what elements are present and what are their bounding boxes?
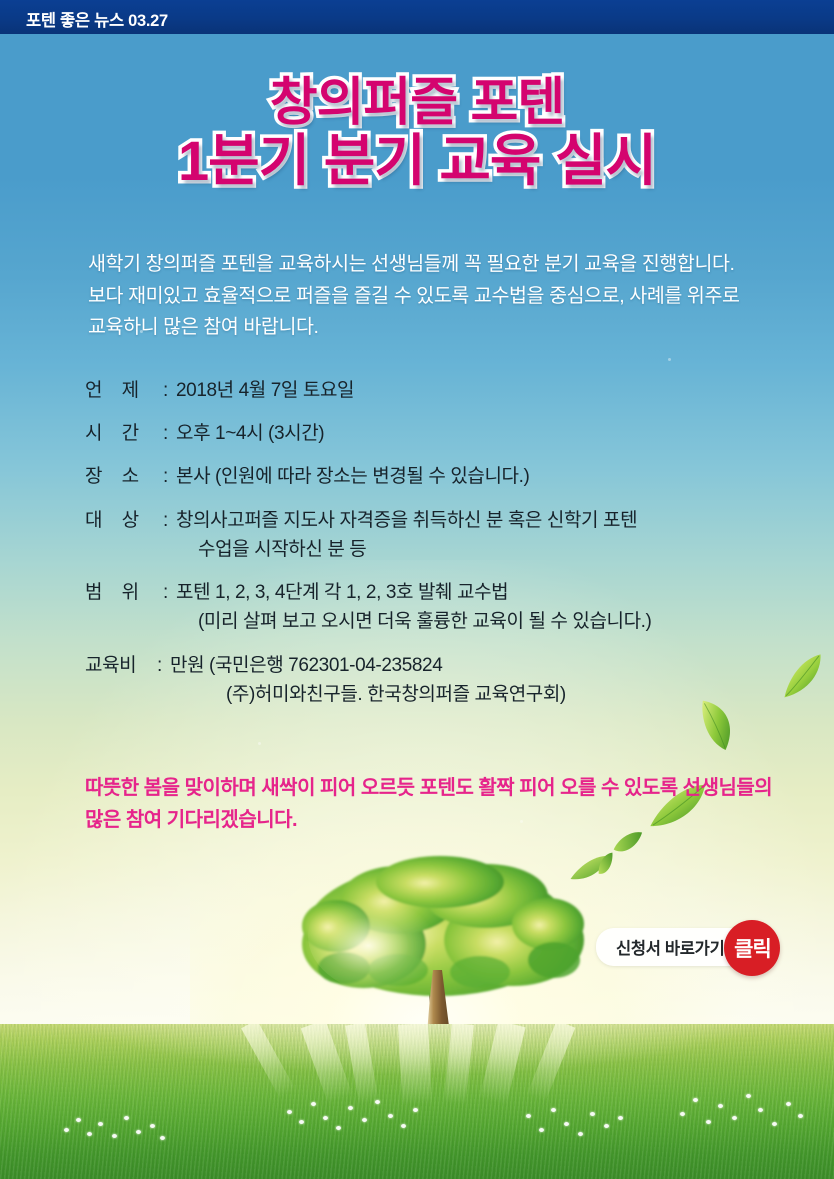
detail-row-audience: 대 상 : 창의사고퍼즐 지도사 자격증을 취득하신 분 혹은 신학기 포텐 수… bbox=[85, 508, 785, 563]
detail-colon: : bbox=[163, 464, 176, 490]
detail-value: 오후 1~4시 (3시간) bbox=[176, 421, 785, 447]
detail-colon: : bbox=[163, 580, 176, 606]
detail-label: 범 위 bbox=[85, 580, 163, 606]
closing-message: 따뜻한 봄을 맞이하며 새싹이 피어 오르듯 포텐도 활짝 피어 오를 수 있도… bbox=[85, 772, 775, 836]
flower-cluster bbox=[285, 1096, 425, 1136]
detail-colon: : bbox=[163, 421, 176, 447]
detail-row-scope: 범 위 : 포텐 1, 2, 3, 4단계 각 1, 2, 3호 발췌 교수법 … bbox=[85, 580, 785, 635]
detail-value-sub: 수업을 시작하신 분 등 bbox=[176, 537, 785, 563]
detail-colon: : bbox=[157, 653, 170, 679]
flower-cluster bbox=[680, 1090, 810, 1134]
detail-value-sub: (주)허미와친구들. 한국창의퍼즐 교육연구회) bbox=[170, 682, 785, 708]
flower-cluster bbox=[520, 1104, 640, 1140]
detail-row-fee: 교육비 : 만원 (국민은행 762301-04-235824 (주)허미와친구… bbox=[85, 653, 785, 708]
detail-row-time: 시 간 : 오후 1~4시 (3시간) bbox=[85, 421, 785, 447]
detail-value-main: 만원 (국민은행 762301-04-235824 bbox=[170, 655, 442, 676]
header-bar: 포텐 좋은 뉴스 03.27 bbox=[0, 0, 834, 34]
newsletter-poster: 포텐 좋은 뉴스 03.27 bbox=[0, 0, 834, 1179]
detail-label: 시 간 bbox=[85, 421, 163, 447]
detail-value: 2018년 4월 7일 토요일 bbox=[176, 378, 785, 404]
header-title: 포텐 좋은 뉴스 03.27 bbox=[26, 7, 168, 31]
event-details-list: 언 제 : 2018년 4월 7일 토요일 시 간 : 오후 1~4시 (3시간… bbox=[85, 378, 785, 725]
detail-colon: : bbox=[163, 378, 176, 404]
lead-paragraph: 새학기 창의퍼즐 포텐을 교육하시는 선생님들께 꼭 필요한 분기 교육을 진행… bbox=[88, 249, 756, 344]
flower-cluster bbox=[60, 1110, 170, 1144]
grass-meadow bbox=[0, 1024, 834, 1179]
headline-line-2: 1분기 분기 교육 실시 bbox=[0, 131, 834, 190]
detail-value: 창의사고퍼즐 지도사 자격증을 취득하신 분 혹은 신학기 포텐 수업을 시작하… bbox=[176, 508, 785, 563]
detail-label: 장 소 bbox=[85, 464, 163, 490]
detail-value: 만원 (국민은행 762301-04-235824 (주)허미와친구들. 한국창… bbox=[170, 653, 785, 708]
detail-row-when: 언 제 : 2018년 4월 7일 토요일 bbox=[85, 378, 785, 404]
detail-label: 언 제 bbox=[85, 378, 163, 404]
detail-label: 대 상 bbox=[85, 508, 163, 534]
detail-label: 교육비 bbox=[85, 653, 157, 679]
detail-value: 포텐 1, 2, 3, 4단계 각 1, 2, 3호 발췌 교수법 (미리 살펴… bbox=[176, 580, 785, 635]
apply-link-button[interactable]: 신청서 바로가기 클릭 bbox=[596, 928, 764, 966]
detail-row-place: 장 소 : 본사 (인원에 따라 장소는 변경될 수 있습니다.) bbox=[85, 464, 785, 490]
detail-value-sub: (미리 살펴 보고 오시면 더욱 훌륭한 교육이 될 수 있습니다.) bbox=[176, 609, 785, 635]
detail-colon: : bbox=[163, 508, 176, 534]
detail-value: 본사 (인원에 따라 장소는 변경될 수 있습니다.) bbox=[176, 464, 785, 490]
headline-line-1: 창의퍼즐 포텐 bbox=[0, 76, 834, 131]
detail-value-main: 포텐 1, 2, 3, 4단계 각 1, 2, 3호 발췌 교수법 bbox=[176, 582, 508, 603]
headline-block: 창의퍼즐 포텐 1분기 분기 교육 실시 bbox=[0, 76, 834, 190]
detail-value-main: 창의사고퍼즐 지도사 자격증을 취득하신 분 혹은 신학기 포텐 bbox=[176, 510, 637, 531]
